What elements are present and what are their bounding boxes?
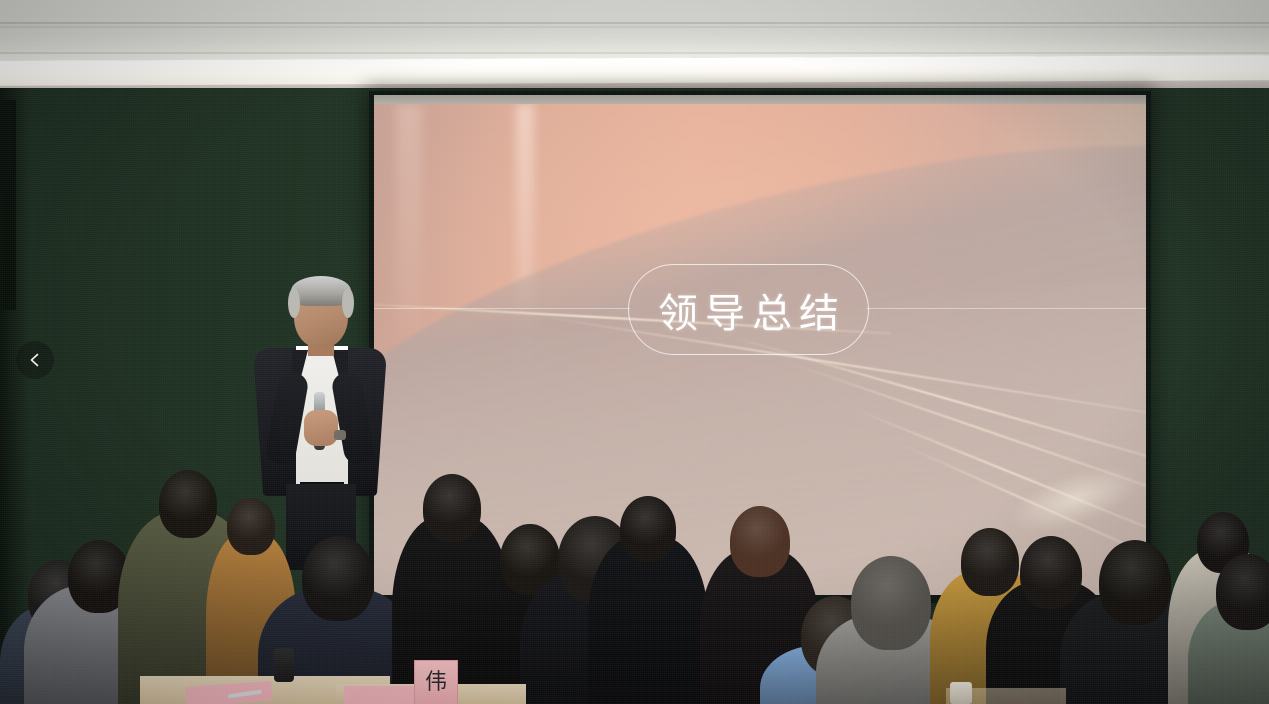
- name-placard: 伟: [414, 660, 458, 704]
- wall-panel-edge: [0, 100, 16, 310]
- slide-title-pill: 领导总结: [628, 264, 869, 355]
- presenter-hair-side: [288, 288, 300, 318]
- projection-screen-top-bar: [374, 95, 1146, 104]
- attendee-head: [730, 506, 790, 577]
- attendee-head: [302, 536, 374, 621]
- attendee-head: [1099, 540, 1171, 625]
- ceiling-seam: [0, 26, 1269, 28]
- attendee-head: [620, 496, 676, 562]
- attendee-sagegreen: [1188, 554, 1269, 704]
- previous-button[interactable]: [16, 341, 54, 379]
- attendee-black-right: [588, 496, 708, 704]
- presentation-photo: 领导总结 伟: [0, 0, 1269, 704]
- ceiling-seam: [0, 52, 1269, 54]
- chevron-left-icon: [27, 352, 43, 368]
- name-placard-text: 伟: [425, 672, 447, 694]
- slide-title: 领导总结: [651, 281, 846, 339]
- presenter-hair-side: [342, 288, 354, 318]
- slide-rule-left: [374, 308, 630, 309]
- presenter-watch: [334, 430, 346, 440]
- attendee-head: [851, 556, 931, 650]
- desk-cup: [950, 682, 972, 704]
- presenter-hands: [304, 410, 338, 446]
- slide-rule-right: [866, 308, 1146, 309]
- ceiling-seam: [0, 22, 1269, 24]
- attendee-head: [1216, 554, 1269, 630]
- desk-bottle: [274, 648, 294, 682]
